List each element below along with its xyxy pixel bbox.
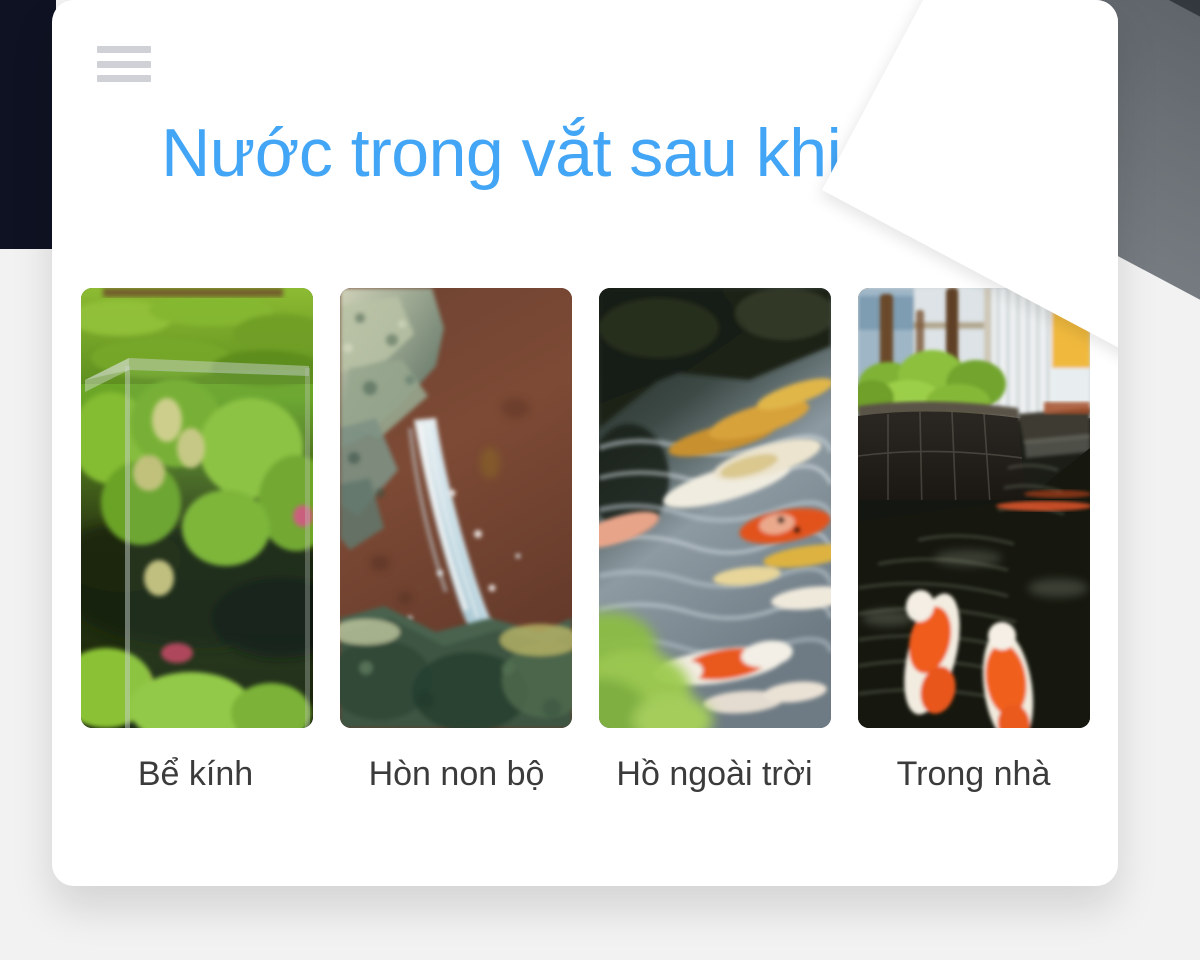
hamburger-bar-3	[97, 75, 151, 82]
gallery-item-label: Hồ ngoài trời	[599, 756, 831, 793]
hamburger-bar-1	[97, 46, 151, 53]
gallery-item-label: Trong nhà	[858, 756, 1090, 793]
rock-fountain-photo[interactable]	[340, 288, 572, 728]
outdoor-koi-pond-photo[interactable]	[599, 288, 831, 728]
planted-glass-aquarium-photo[interactable]	[81, 288, 313, 728]
gallery-item-aquarium[interactable]: Bể kính	[81, 288, 313, 793]
hamburger-menu-icon[interactable]	[97, 42, 151, 86]
gallery-item-label: Bể kính	[79, 756, 313, 793]
gallery-item-outdoor-pond[interactable]: Hồ ngoài trời	[599, 288, 831, 793]
gallery-item-rockery[interactable]: Hòn non bộ	[340, 288, 572, 793]
content-card: Nước trong vắt sau khi dùng	[52, 0, 1118, 886]
backdrop-left	[0, 0, 56, 249]
gallery-item-indoor-pond[interactable]: Trong nhà	[858, 288, 1090, 793]
hamburger-bar-2	[97, 61, 151, 68]
gallery-item-label: Hòn non bộ	[342, 756, 572, 793]
page-root: Nước trong vắt sau khi dùng	[0, 0, 1200, 960]
indoor-koi-pond-photo[interactable]	[858, 288, 1090, 728]
usage-gallery: Bể kính	[52, 288, 1118, 793]
